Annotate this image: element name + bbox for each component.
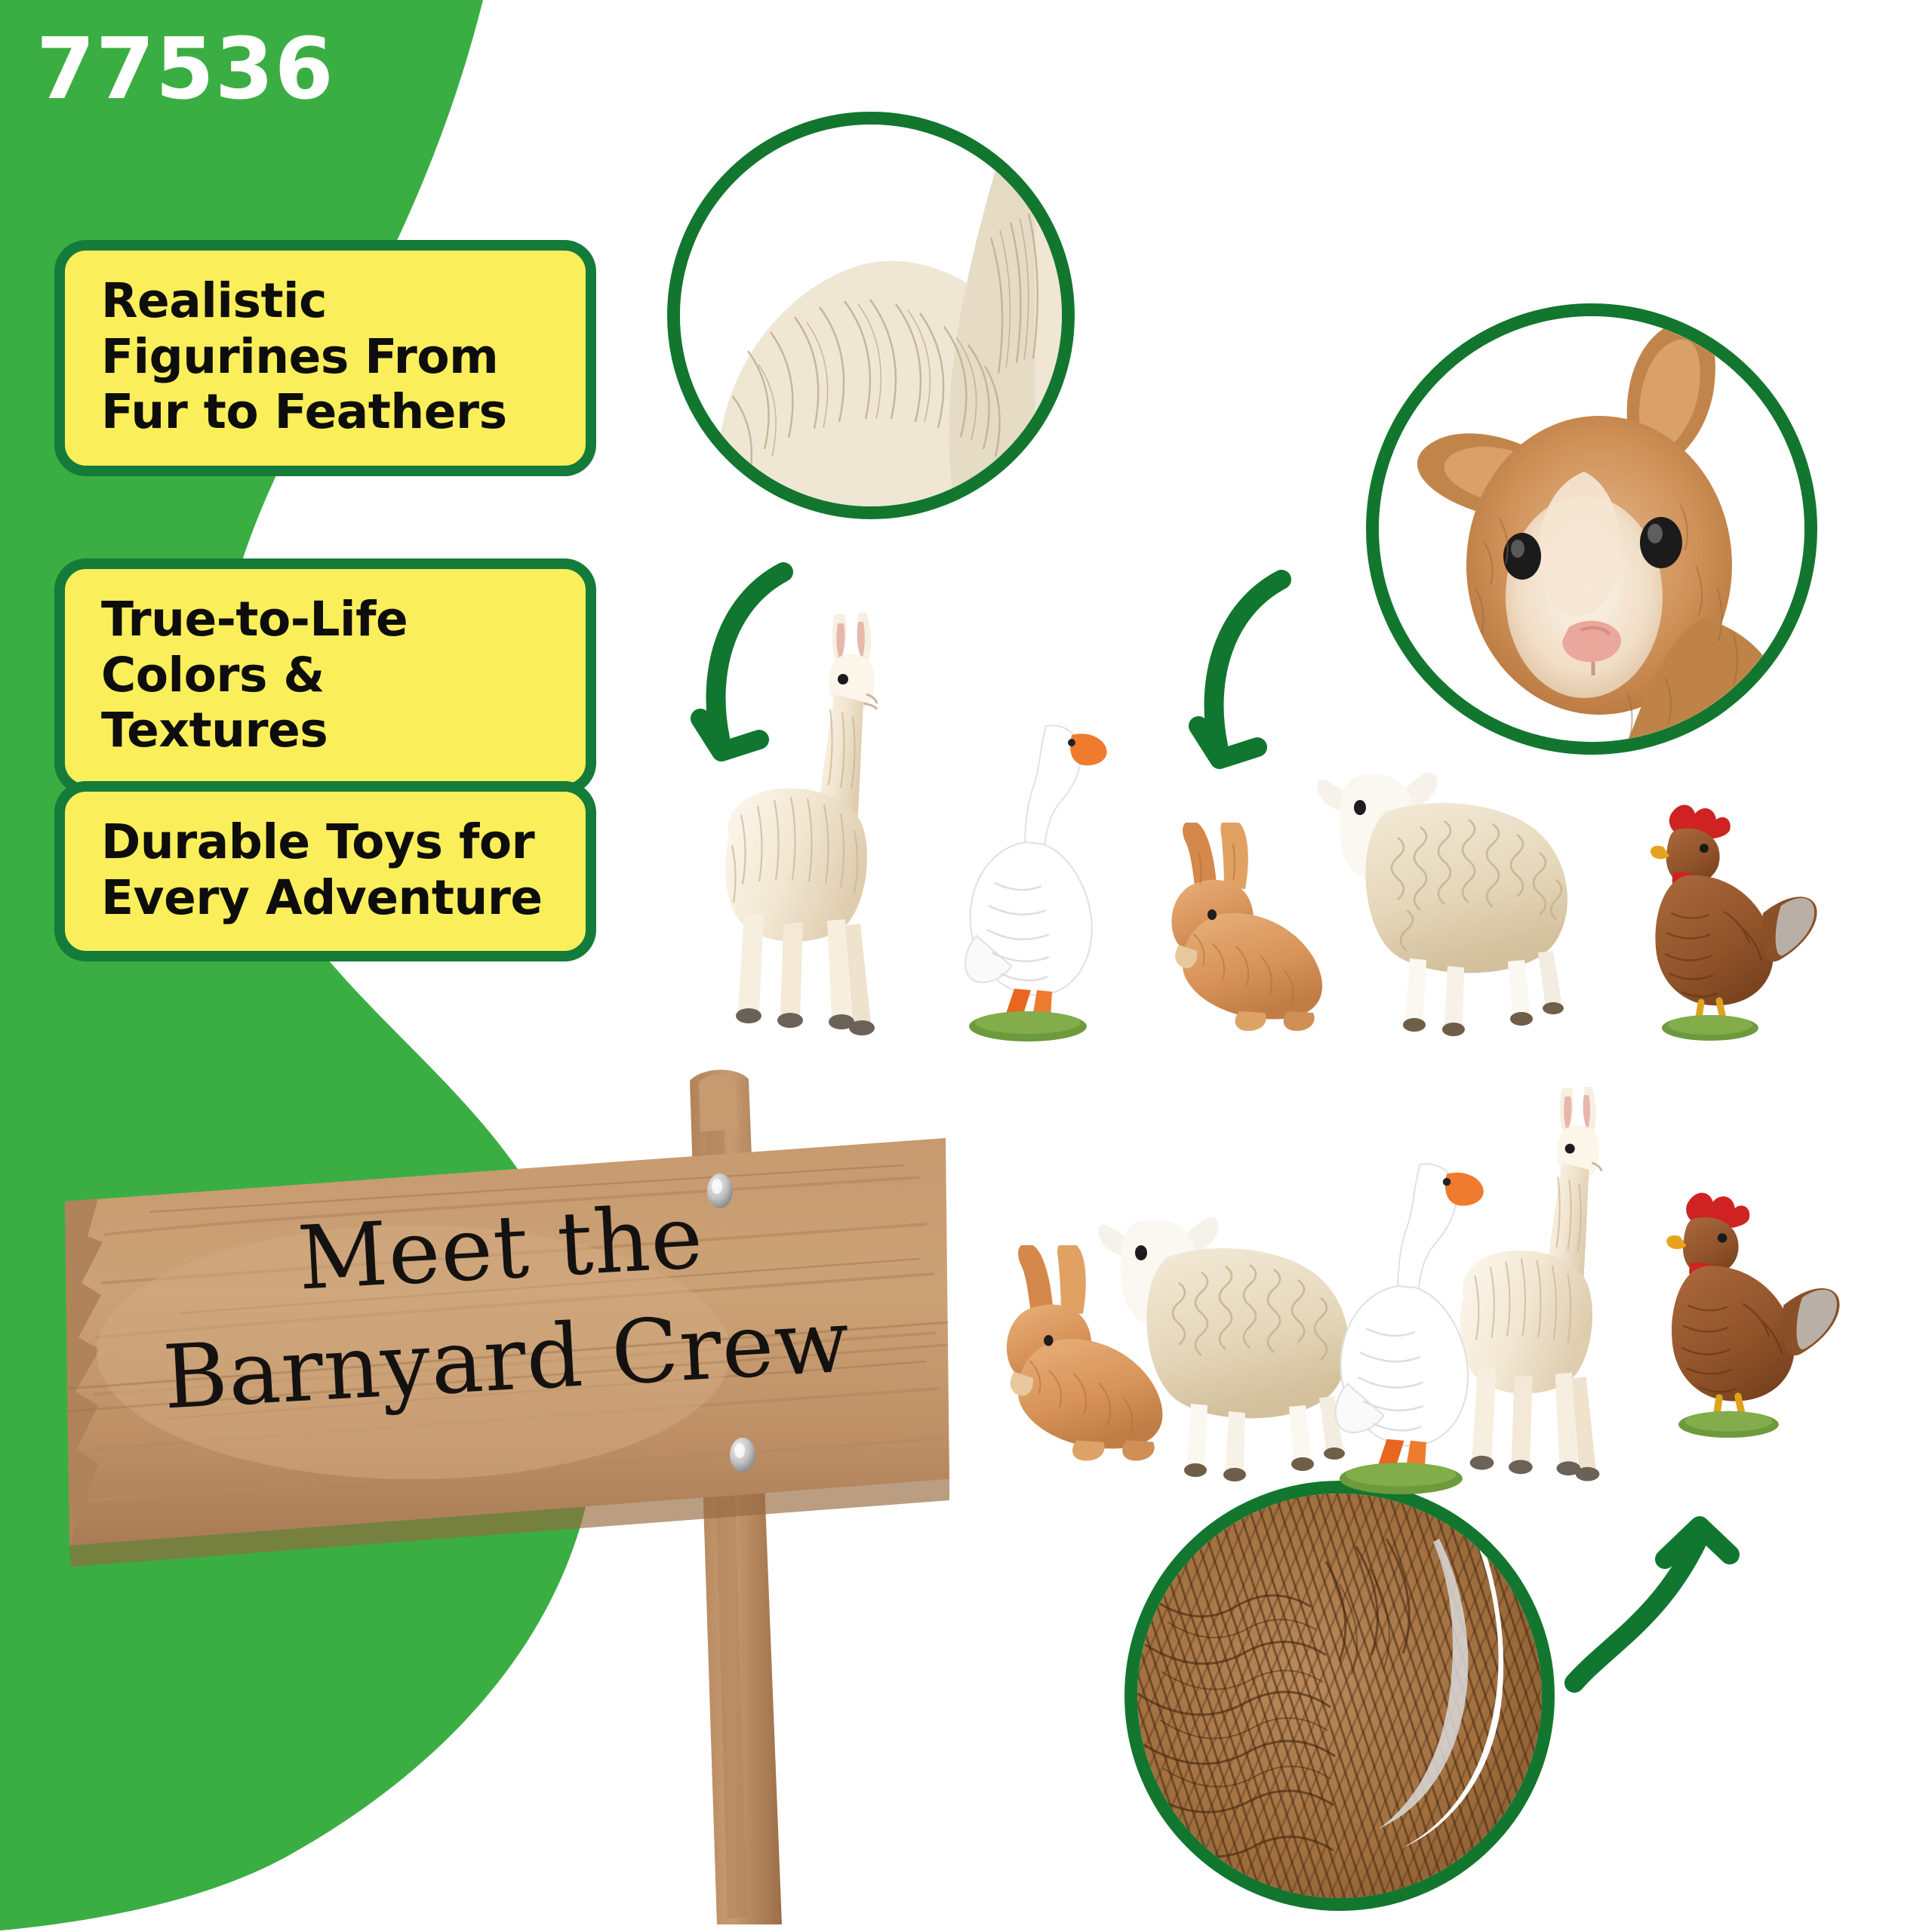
goose-figure-top bbox=[958, 709, 1117, 1041]
rabbit-face-closeup-inset bbox=[1366, 303, 1817, 755]
llama-fleece-closeup-inset bbox=[667, 112, 1075, 519]
sign-board bbox=[65, 1138, 949, 1567]
feature-badge-realistic-figurines: Realistic Figurines From Fur to Feathers bbox=[54, 240, 596, 476]
hen-figure-bottom bbox=[1638, 1185, 1841, 1441]
hen-feather-shape bbox=[1137, 1494, 1542, 1898]
goose-figure-bottom bbox=[1321, 1147, 1502, 1494]
product-sku: 77536 bbox=[36, 27, 334, 112]
arrow-to-hen-icon bbox=[1562, 1457, 1819, 1698]
product-infographic: 77536 Realistic Figurines From Fur to Fe… bbox=[0, 0, 1932, 1932]
feature-badge-durable-toys: Durable Toys for Every Adventure bbox=[54, 781, 596, 961]
hen-feather-closeup-inset bbox=[1124, 1481, 1555, 1911]
feature-badge-true-to-life-colors: True-to-Life Colors & Textures bbox=[54, 558, 596, 795]
sign-screw-top bbox=[707, 1174, 733, 1208]
llama-fleece-shape bbox=[680, 125, 1062, 506]
sheep-figure-top bbox=[1313, 740, 1600, 1041]
hen-figure-top bbox=[1623, 800, 1819, 1041]
sign-screw-bottom bbox=[730, 1438, 755, 1472]
rabbit-face-image bbox=[1379, 316, 1804, 742]
wooden-sign bbox=[59, 1057, 949, 1932]
llama-figure-top bbox=[702, 589, 943, 1041]
